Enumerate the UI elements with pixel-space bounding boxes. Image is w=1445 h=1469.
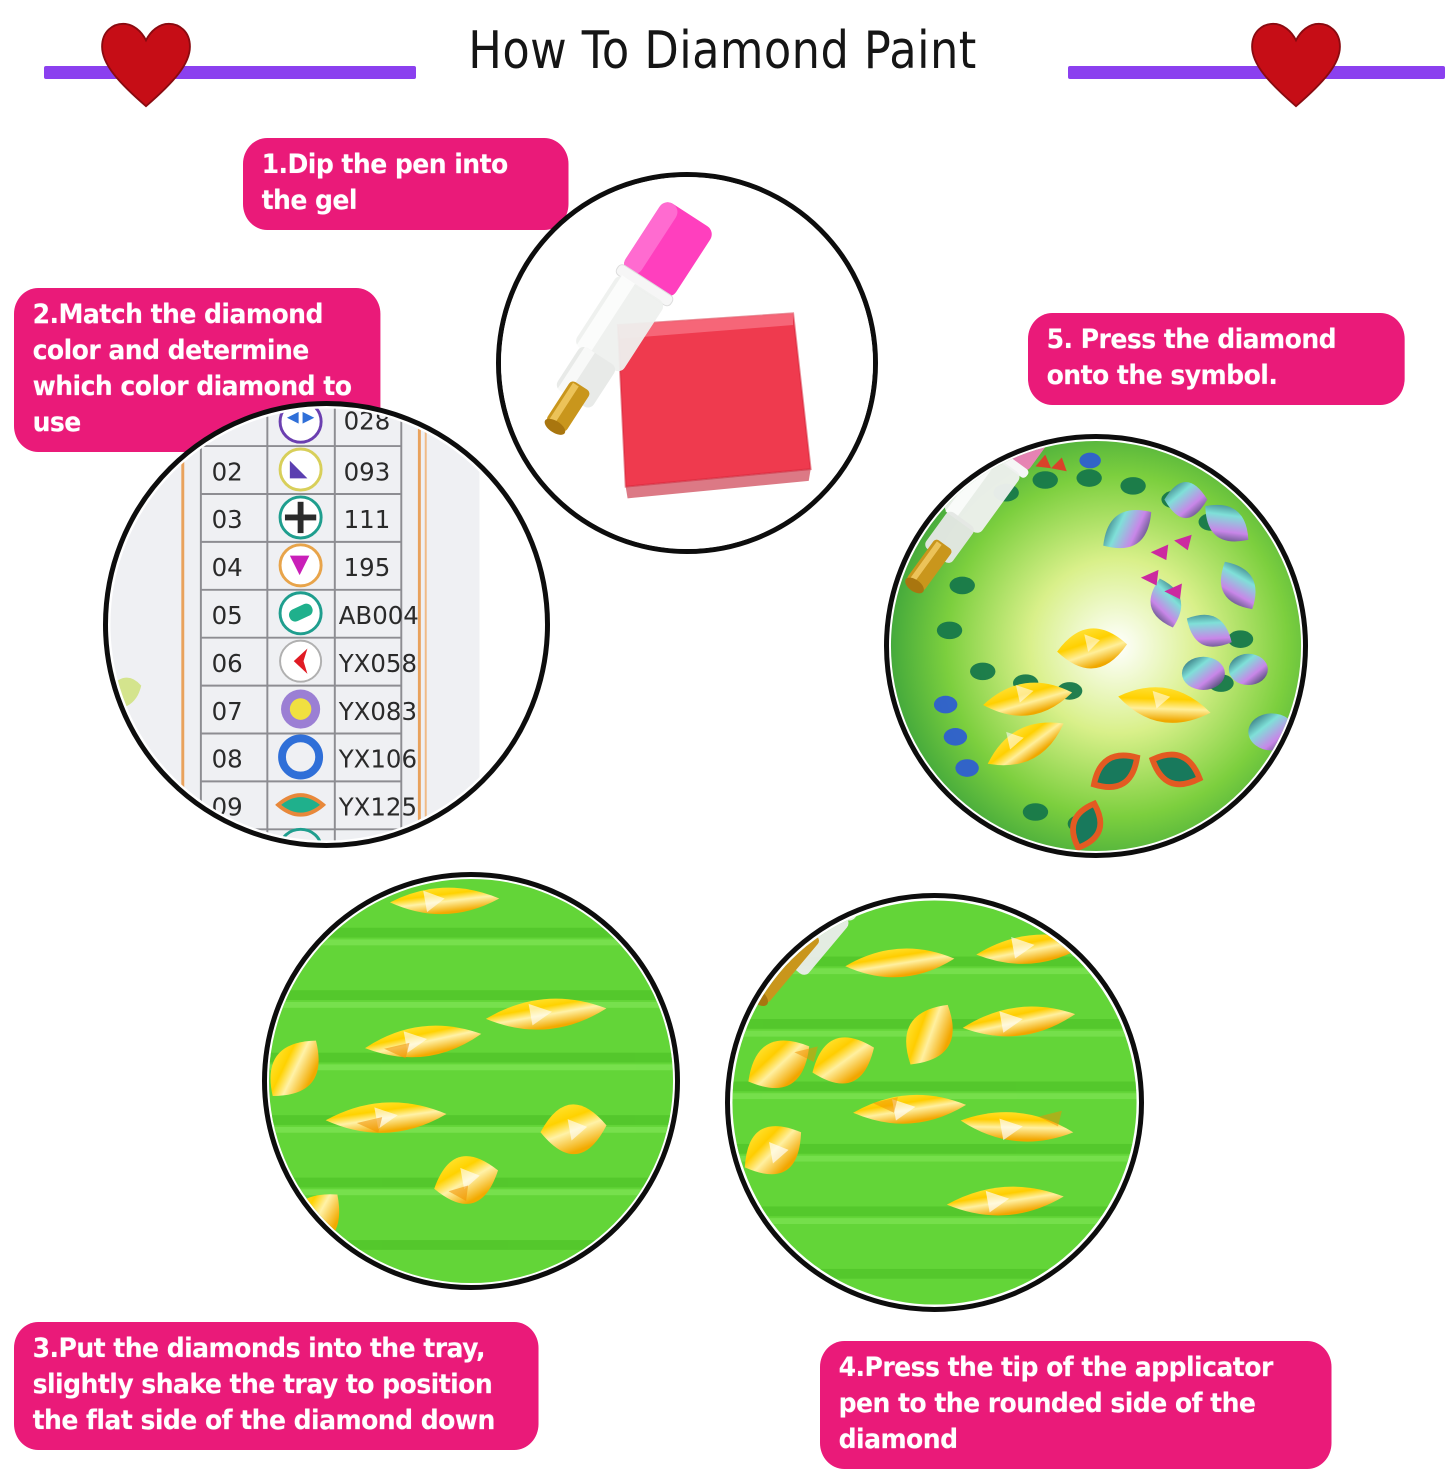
step-1-photo <box>496 172 878 554</box>
step-4-label: 4.Press the tip of the applicator pen to… <box>820 1341 1332 1469</box>
placing-diamond-on-canvas-illustration <box>889 439 1303 853</box>
step-3-label: 3.Put the diamonds into the tray, slight… <box>14 1322 539 1450</box>
svg-text:093: 093 <box>344 457 391 486</box>
page-title: How To Diamond Paint <box>101 20 1344 82</box>
svg-text:04: 04 <box>212 553 243 582</box>
svg-text:02: 02 <box>212 457 243 486</box>
svg-text:195: 195 <box>344 553 391 582</box>
step-5-label: 5. Press the diamond onto the symbol. <box>1028 313 1405 405</box>
svg-text:AB004: AB004 <box>339 601 419 630</box>
step-5-photo <box>884 434 1308 858</box>
diamonds-in-green-tray-illustration <box>267 877 675 1285</box>
pen-dipping-into-gel-illustration <box>501 177 873 549</box>
pen-picking-up-diamond-illustration <box>730 898 1139 1307</box>
svg-text:09: 09 <box>212 793 243 822</box>
svg-text:03: 03 <box>212 505 243 534</box>
infographic-root: How To Diamond Paint 1.Dip the pen into … <box>0 0 1445 1445</box>
svg-text:YX125: YX125 <box>338 793 417 822</box>
svg-text:YX083: YX083 <box>338 697 417 726</box>
svg-text:028: 028 <box>344 406 391 435</box>
step-2-photo: 028 02 093 03 111 <box>103 401 550 848</box>
svg-text:111: 111 <box>344 505 391 534</box>
step-1-label: 1.Dip the pen into the gel <box>243 138 569 230</box>
svg-text:YX058: YX058 <box>338 649 417 678</box>
diamond-color-chart-illustration: 028 02 093 03 111 <box>108 406 545 843</box>
page-header: How To Diamond Paint <box>0 0 1445 115</box>
svg-text:08: 08 <box>212 745 243 774</box>
svg-text:05: 05 <box>212 601 243 630</box>
step-3-photo <box>262 872 680 1290</box>
svg-text:07: 07 <box>212 697 243 726</box>
svg-text:06: 06 <box>212 649 243 678</box>
svg-text:YX106: YX106 <box>338 745 417 774</box>
step-4-photo <box>725 893 1144 1312</box>
